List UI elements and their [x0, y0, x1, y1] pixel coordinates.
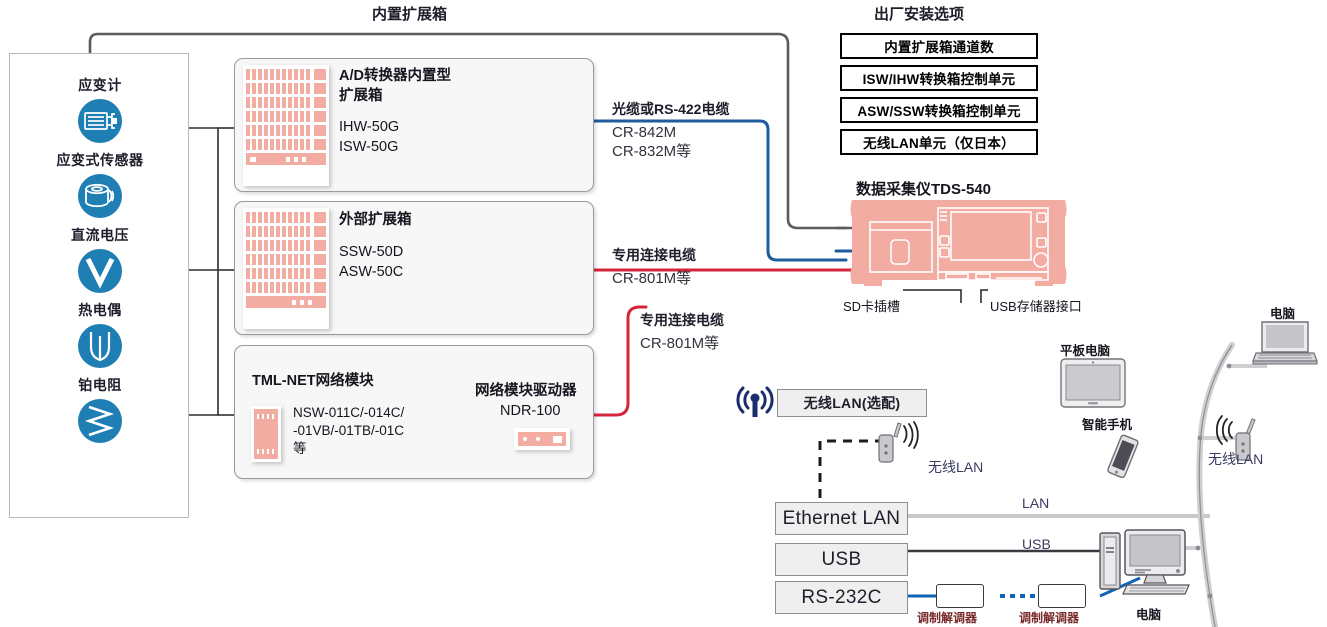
card-model: SSW-50D — [339, 243, 403, 262]
wireless-ap-left-label: 无线LAN — [928, 457, 983, 477]
card-model: ISW-50G — [339, 138, 398, 157]
sensor-label: 热电偶 — [10, 300, 190, 320]
interface-ethernet-lan[interactable]: Ethernet LAN — [775, 502, 908, 535]
cable-label-dedicated-bottom: 专用连接电缆 — [640, 310, 724, 330]
link-label-lan: LAN — [1022, 495, 1049, 511]
card-model: IHW-50G — [339, 118, 399, 137]
logger-usb-port-label: USB存储器接口 — [990, 296, 1082, 315]
wireless-signal-icon — [735, 383, 775, 428]
sensor-label: 铂电阻 — [10, 375, 190, 395]
expansion-box-pictogram — [243, 208, 329, 329]
card-title: TML-NET网络模块 — [252, 372, 374, 391]
sensor-item-platinum-rtd: 铂电阻 — [10, 375, 190, 449]
sensor-item-strain-transducer: 应变式传感器 — [10, 150, 190, 224]
cable-label-dedicated-top: 专用连接电缆 — [612, 245, 696, 265]
thermocouple-icon — [77, 323, 123, 369]
cable-model: CR-832M等 — [612, 142, 691, 161]
sensor-label: 应变计 — [10, 75, 190, 95]
strain-gauge-icon — [77, 98, 123, 144]
option-box-wireless-lan-unit[interactable]: 无线LAN单元（仅日本） — [840, 129, 1038, 155]
smartphone-icon — [1100, 432, 1144, 485]
dedicated-cable-bottom-line — [586, 307, 646, 415]
expansion-box-pictogram — [243, 65, 329, 186]
sensor-item-strain-gauge: 应变计 — [10, 75, 190, 149]
cable-model: CR-842M — [612, 123, 676, 142]
dc-voltage-icon — [77, 248, 123, 294]
modem-right[interactable] — [1038, 584, 1086, 608]
wireless-ap-right-label: 无线LAN — [1208, 449, 1263, 469]
card-title: A/D转换器内置型 — [339, 67, 451, 86]
card-model: ASW-50C — [339, 263, 403, 282]
ndr-100-pictogram — [514, 428, 570, 450]
card-title-line2: 扩展箱 — [339, 87, 383, 106]
modem-right-label: 调制解调器 — [1019, 609, 1079, 626]
modem-left-label: 调制解调器 — [917, 609, 977, 626]
logger-sd-slot-label: SD卡插槽 — [843, 296, 900, 315]
card-title: 外部扩展箱 — [339, 211, 412, 230]
wireless-lan-option-box[interactable]: 无线LAN(选配) — [777, 389, 927, 417]
tablet-label: 平板电脑 — [1060, 340, 1110, 359]
sensor-label: 直流电压 — [10, 225, 190, 245]
card-tml-net-module[interactable]: TML-NET网络模块 NSW-011C/-014C/ -01VB/-01TB/… — [234, 345, 594, 479]
sensor-item-thermocouple: 热电偶 — [10, 300, 190, 374]
desktop-pc-icon — [1099, 528, 1191, 605]
option-box-asw-ssw-control-unit[interactable]: ASW/SSW转换箱控制单元 — [840, 97, 1038, 123]
heading-builtin-expansion: 内置扩展箱 — [372, 3, 447, 24]
card-ad-converter-box[interactable]: A/D转换器内置型 扩展箱 IHW-50G ISW-50G — [234, 58, 594, 192]
card-model: NSW-011C/-014C/ — [293, 404, 404, 422]
sensor-panel: 应变计 应变式传感器 — [9, 53, 189, 518]
smartphone-label: 智能手机 — [1082, 414, 1132, 433]
wireless-access-point-left-icon — [865, 422, 925, 471]
card-model: -01VB/-01TB/-01C — [293, 422, 404, 440]
sensor-label: 应变式传感器 — [10, 150, 190, 170]
heading-factory-options: 出厂安装选项 — [874, 3, 964, 24]
tablet-icon — [1060, 358, 1126, 413]
cable-model: CR-801M等 — [612, 269, 691, 288]
interface-usb[interactable]: USB — [775, 543, 908, 576]
modem-left[interactable] — [936, 584, 984, 608]
option-box-isw-ihw-control-unit[interactable]: ISW/IHW转换箱控制单元 — [840, 65, 1038, 91]
desktop-label: 电脑 — [1136, 604, 1161, 623]
platinum-rtd-icon — [77, 398, 123, 444]
cable-label-optical-rs422: 光缆或RS-422电缆 — [612, 99, 729, 119]
option-box-channel-count[interactable]: 内置扩展箱通道数 — [840, 33, 1038, 59]
diagram-canvas: 内置扩展箱 出厂安装选项 应变计 — [0, 0, 1327, 627]
driver-title: 网络模块驱动器 — [475, 382, 577, 401]
driver-model: NDR-100 — [500, 402, 560, 421]
strain-transducer-icon — [77, 173, 123, 219]
network-module-pictogram — [251, 406, 281, 462]
sensor-item-dc-voltage: 直流电压 — [10, 225, 190, 299]
interface-rs232c[interactable]: RS-232C — [775, 581, 908, 614]
data-logger-tds540[interactable] — [846, 196, 1071, 288]
link-label-usb: USB — [1022, 536, 1051, 552]
cable-model: CR-801M等 — [640, 334, 719, 353]
card-external-expansion-box[interactable]: 外部扩展箱 SSW-50D ASW-50C — [234, 201, 594, 335]
card-model: 等 — [293, 440, 307, 458]
lan-backbone-curve — [1199, 345, 1232, 627]
laptop-icon — [1253, 320, 1317, 373]
